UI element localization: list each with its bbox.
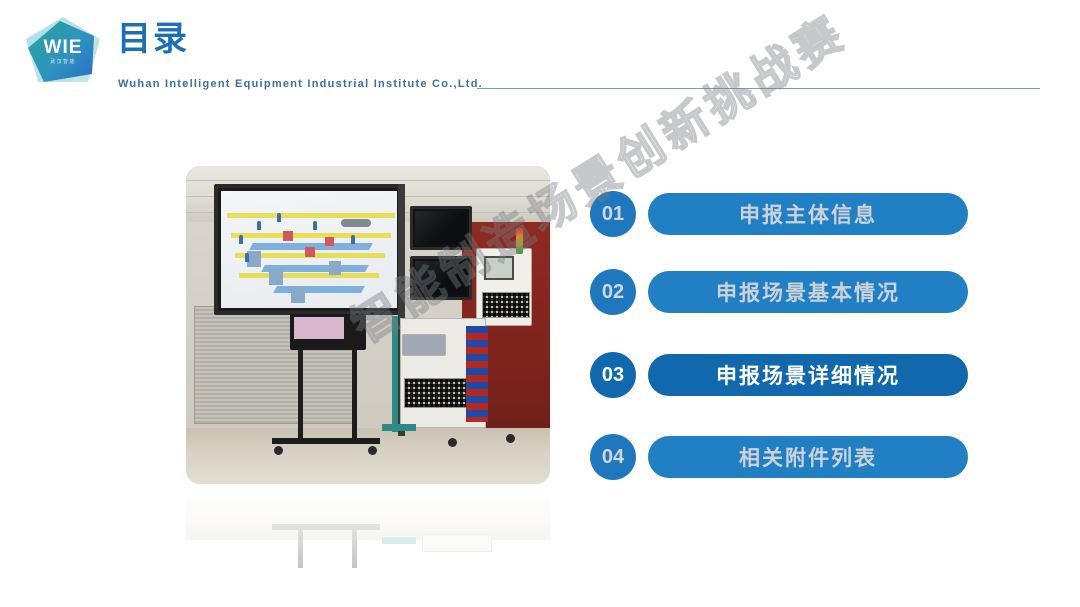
wie-logo-subtext: 武汉智能 bbox=[22, 60, 104, 65]
toc-label-04[interactable]: 相关附件列表 bbox=[648, 436, 968, 478]
toc-item-02[interactable]: 02 申报场景基本情况 bbox=[586, 266, 986, 318]
photo-reflection bbox=[186, 484, 550, 568]
toc-item-04[interactable]: 04 相关附件列表 bbox=[586, 431, 986, 483]
industrial-lab-photo bbox=[186, 166, 550, 484]
photo-block bbox=[186, 166, 550, 484]
toc-number-03: 03 bbox=[590, 352, 636, 398]
toc-menu: 01 申报主体信息 02 申报场景基本情况 03 申报场景详细情况 04 相关附… bbox=[586, 188, 986, 488]
wie-logo-text: WIE bbox=[22, 38, 104, 57]
slide-header: WIE 武汉智能 目录 Wuhan Intelligent Equipment … bbox=[0, 0, 1080, 110]
photo-big-display bbox=[214, 184, 404, 315]
toc-number-02: 02 bbox=[590, 269, 636, 315]
photo-monitor-top bbox=[410, 206, 472, 250]
photo-monitor-bottom bbox=[410, 256, 472, 300]
page-title: 目录 bbox=[117, 21, 189, 58]
photo-stack-light bbox=[516, 228, 523, 254]
company-name-en: Wuhan Intelligent Equipment Industrial I… bbox=[118, 78, 483, 90]
header-divider bbox=[477, 88, 1040, 89]
slide-root: WIE 武汉智能 目录 Wuhan Intelligent Equipment … bbox=[0, 0, 1080, 607]
toc-label-02[interactable]: 申报场景基本情况 bbox=[648, 271, 968, 313]
toc-item-01[interactable]: 01 申报主体信息 bbox=[586, 188, 986, 240]
toc-number-04: 04 bbox=[590, 434, 636, 480]
photo-parts-bins bbox=[466, 326, 488, 422]
toc-label-03[interactable]: 申报场景详细情况 bbox=[648, 354, 968, 396]
toc-item-03[interactable]: 03 申报场景详细情况 bbox=[586, 349, 986, 401]
toc-number-01: 01 bbox=[590, 191, 636, 237]
photo-scene bbox=[186, 166, 550, 484]
toc-label-01[interactable]: 申报主体信息 bbox=[648, 193, 968, 235]
wie-logo: WIE 武汉智能 bbox=[22, 12, 104, 92]
